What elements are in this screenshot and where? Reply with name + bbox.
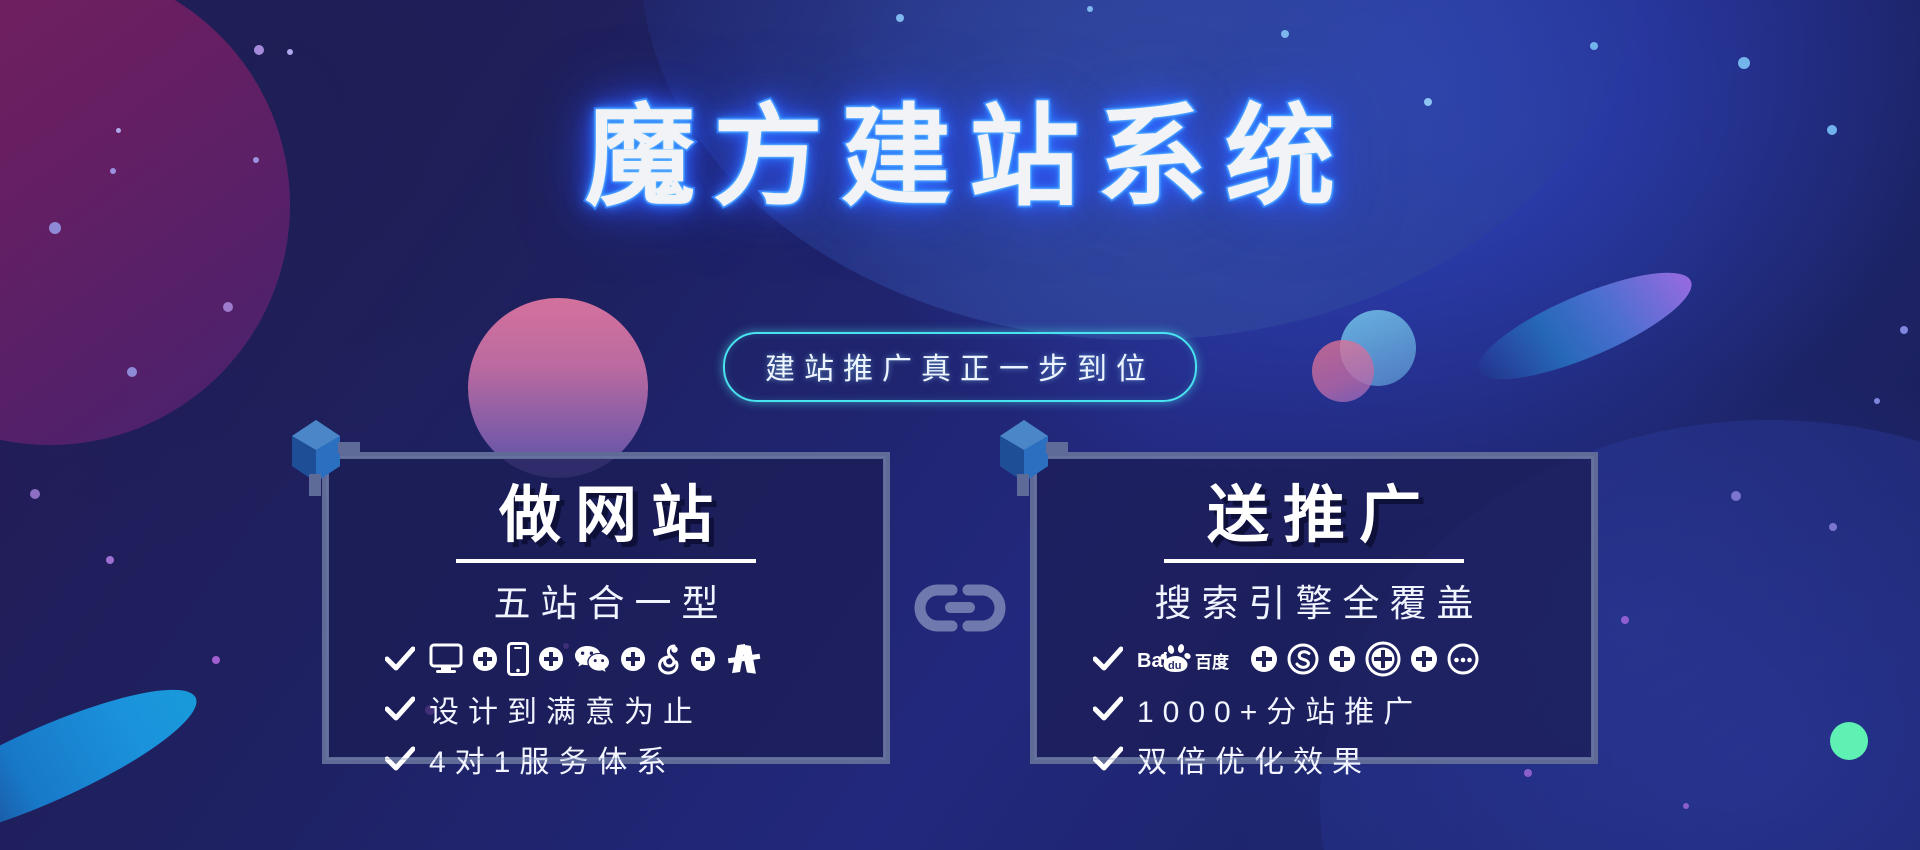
star-dot bbox=[49, 222, 61, 234]
check-icon bbox=[1093, 696, 1123, 722]
chain-link-icon bbox=[912, 580, 1008, 636]
check-icon bbox=[385, 746, 415, 772]
svg-text:百度: 百度 bbox=[1195, 652, 1230, 673]
subtitle-block: 建站推广真正一步到位 bbox=[0, 332, 1920, 402]
search-engine-icon-strip: Bai du 百度 bbox=[1137, 641, 1479, 677]
page-title: 魔方建站系统 bbox=[557, 96, 1363, 219]
360-search-icon bbox=[1365, 641, 1401, 677]
feature-panels: 做网站 五站合一型 bbox=[0, 452, 1920, 764]
svg-text:Bai: Bai bbox=[1137, 650, 1168, 672]
mobile-phone-icon bbox=[507, 642, 529, 676]
feature-label: 设计到满意为止 bbox=[429, 687, 702, 731]
banner-stage: 魔方建站系统 建站推广真正一步到位 做网站 五站合一型 bbox=[0, 0, 1920, 850]
panel-divider bbox=[456, 559, 756, 563]
feature-row-design: 设计到满意为止 bbox=[349, 687, 863, 731]
plus-circle-icon bbox=[538, 646, 564, 672]
sogou-logo-icon bbox=[1287, 643, 1319, 675]
star-dot bbox=[1281, 30, 1289, 38]
qq-music-note-icon bbox=[655, 643, 681, 675]
star-dot bbox=[1087, 6, 1093, 12]
panel-subheading: 五站合一型 bbox=[349, 573, 863, 627]
feature-row-platforms bbox=[349, 637, 863, 681]
feature-row-engines: Bai du 百度 bbox=[1057, 637, 1571, 681]
star-dot bbox=[896, 14, 904, 22]
check-icon bbox=[1093, 646, 1123, 672]
cube-icon bbox=[286, 414, 360, 496]
panel-free-promotion: 送推广 搜索引擎全覆盖 Bai bbox=[1030, 452, 1598, 764]
cube-icon bbox=[994, 414, 1068, 496]
star-dot bbox=[1683, 803, 1689, 809]
feature-row-optimization: 双倍优化效果 bbox=[1057, 737, 1571, 781]
platform-icon-strip bbox=[429, 642, 763, 676]
plus-circle-icon bbox=[1250, 645, 1278, 673]
hero-block: 魔方建站系统 bbox=[0, 96, 1920, 219]
star-dot bbox=[1590, 42, 1598, 50]
wechat-icon bbox=[573, 644, 611, 674]
panel-slot-right: 送推广 搜索引擎全覆盖 Bai bbox=[1030, 452, 1598, 764]
feature-label: 4对1服务体系 bbox=[429, 737, 675, 781]
check-icon bbox=[385, 696, 415, 722]
star-dot bbox=[1738, 57, 1750, 69]
check-icon bbox=[1093, 746, 1123, 772]
panel-connector bbox=[890, 452, 1030, 764]
baidu-logo-icon: Bai du 百度 bbox=[1137, 644, 1241, 674]
panel-heading: 做网站 bbox=[349, 485, 863, 547]
plus-circle-icon bbox=[1328, 645, 1356, 673]
feature-row-subsites: 1000+分站推广 bbox=[1057, 687, 1571, 731]
star-dot bbox=[223, 302, 233, 312]
plus-circle-icon bbox=[690, 646, 716, 672]
panel-subheading: 搜索引擎全覆盖 bbox=[1057, 573, 1571, 627]
plus-circle-icon bbox=[472, 646, 498, 672]
panel-make-website: 做网站 五站合一型 bbox=[322, 452, 890, 764]
svg-text:du: du bbox=[1168, 660, 1181, 672]
subtitle-pill: 建站推广真正一步到位 bbox=[723, 332, 1197, 402]
plus-circle-icon bbox=[620, 646, 646, 672]
app-store-icon bbox=[725, 643, 763, 675]
feature-row-service: 4对1服务体系 bbox=[349, 737, 863, 781]
check-icon bbox=[385, 646, 415, 672]
panel-slot-left: 做网站 五站合一型 bbox=[322, 452, 890, 764]
star-dot bbox=[254, 45, 264, 55]
monitor-icon bbox=[429, 643, 463, 675]
star-dot bbox=[287, 49, 293, 55]
feature-label: 1000+分站推广 bbox=[1137, 687, 1422, 731]
more-ellipsis-icon bbox=[1447, 643, 1479, 675]
plus-circle-icon bbox=[1410, 645, 1438, 673]
feature-label: 双倍优化效果 bbox=[1137, 737, 1371, 781]
panel-heading: 送推广 bbox=[1057, 485, 1571, 547]
panel-divider bbox=[1164, 559, 1464, 563]
